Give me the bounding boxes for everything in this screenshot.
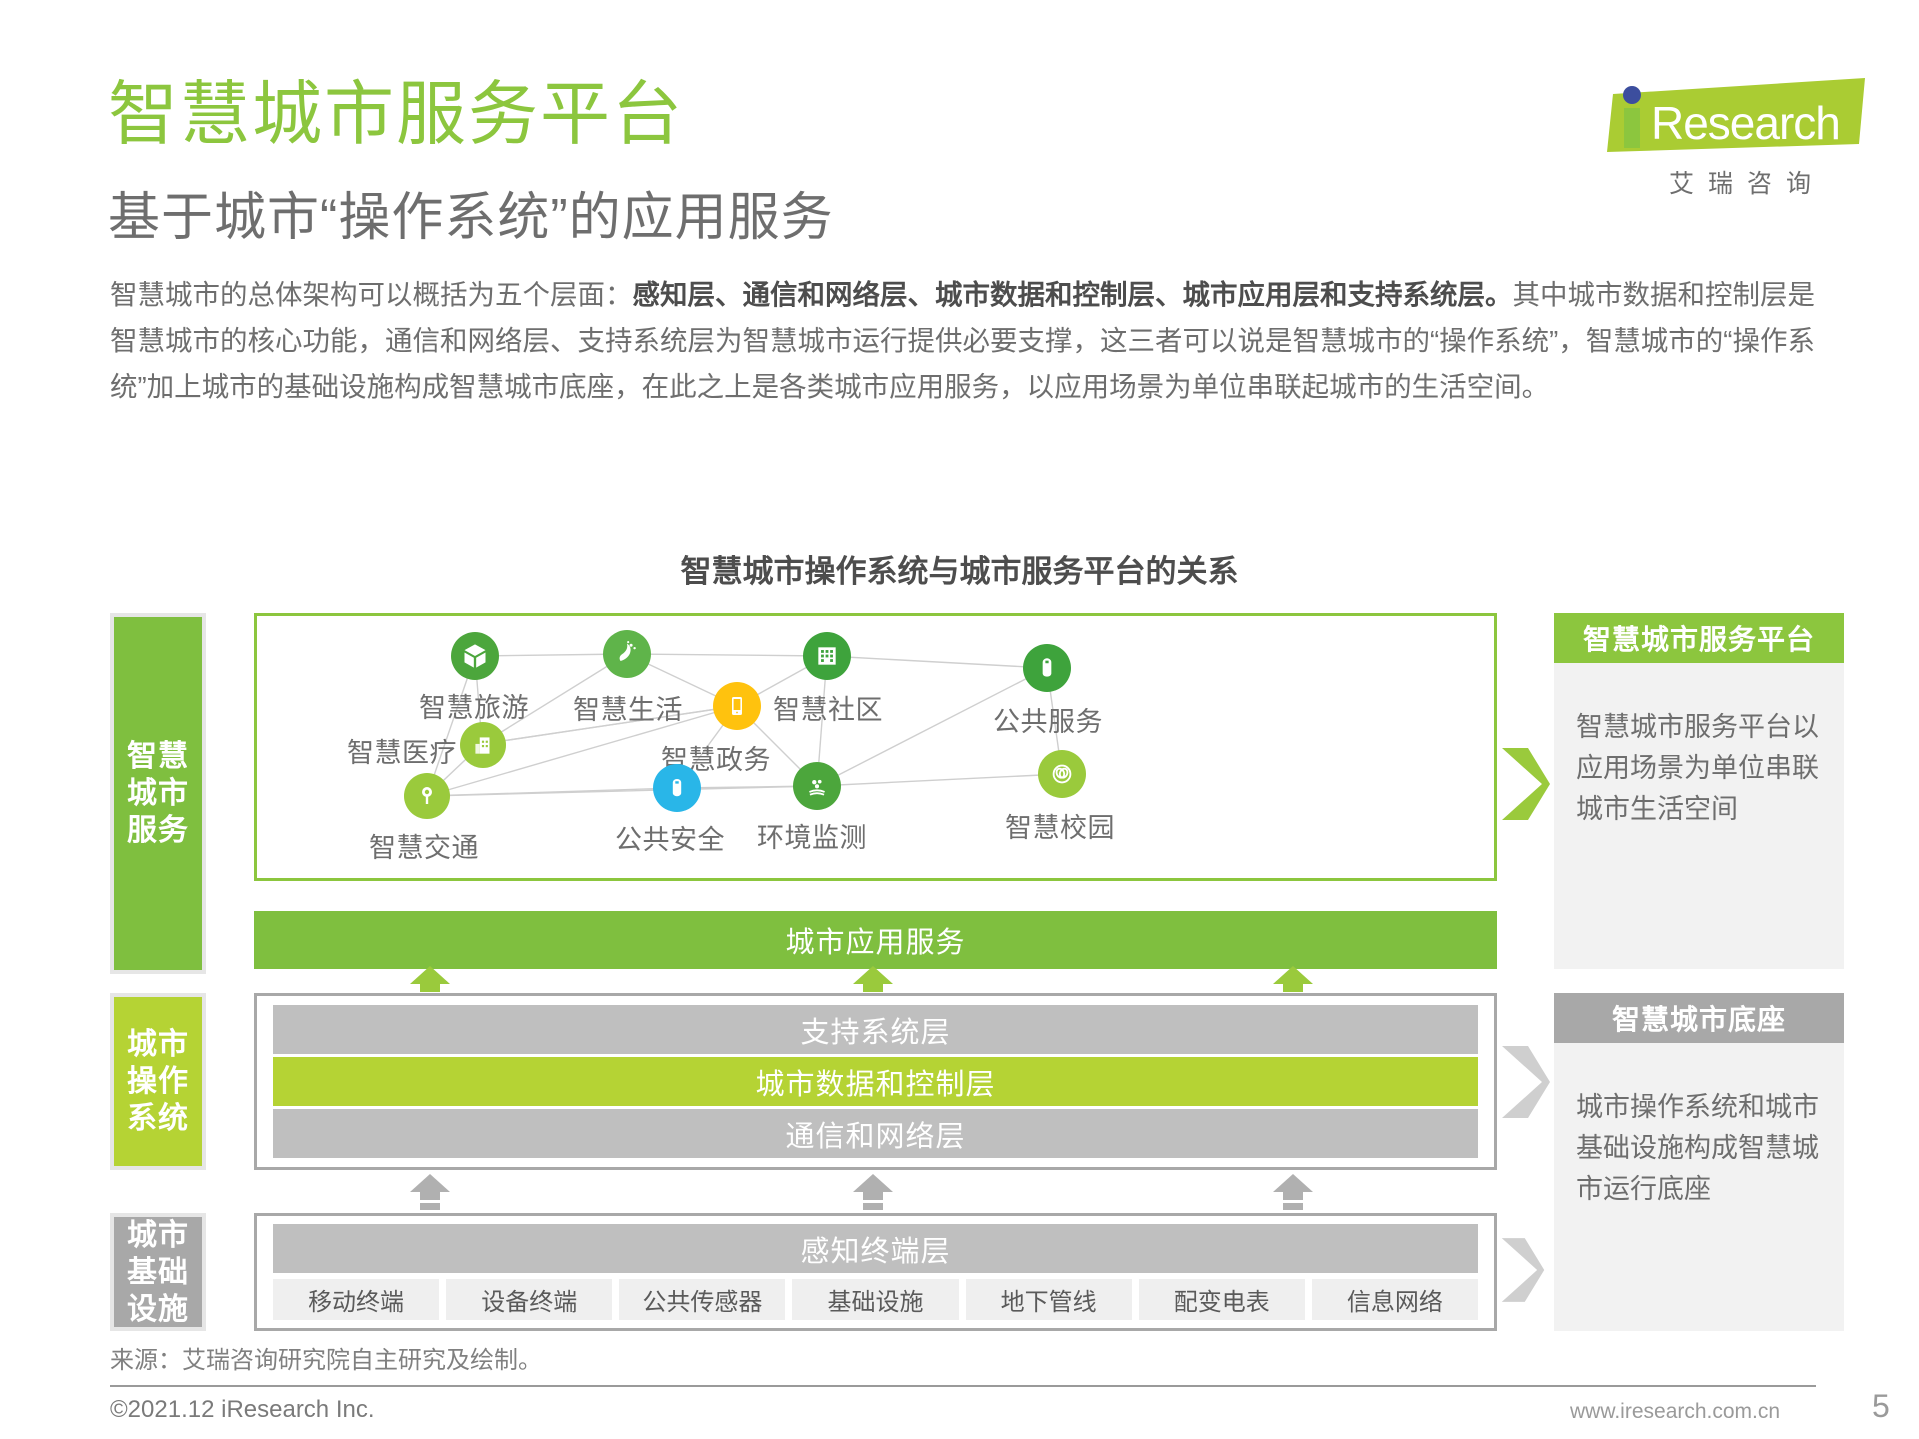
gift-box-icon: [461, 642, 489, 670]
footer-divider: [110, 1385, 1816, 1387]
service-network-panel: 智慧旅游 智慧生活 智慧社区: [254, 613, 1497, 881]
logo-i-stem: [1624, 108, 1640, 148]
chevron-right-grey-icon-2: [1500, 1236, 1546, 1304]
chevron-right-green-icon: [1500, 746, 1552, 822]
traffic-signal-icon: [415, 784, 439, 808]
rail-label-infra: 城市基础设施: [127, 1217, 189, 1328]
node-label-smart-healthcare: 智慧医疗: [347, 731, 457, 770]
infra-cell-power-meter: 配变电表: [1139, 1279, 1305, 1320]
infra-cell-device-terminal: 设备终端: [446, 1279, 612, 1320]
rail-label-services: 智慧城市服务: [127, 738, 189, 849]
infra-cell-information-network: 信息网络: [1312, 1279, 1478, 1320]
paragraph-segment-1: 智慧城市的总体架构可以概括为五个层面：: [110, 279, 633, 310]
intro-paragraph: 智慧城市的总体架构可以概括为五个层面：感知层、通信和网络层、城市数据和控制层、城…: [110, 272, 1822, 410]
node-label-smart-community: 智慧社区: [773, 688, 883, 727]
node-smart-campus[interactable]: [1038, 750, 1086, 798]
website-url: www.iresearch.com.cn: [1570, 1400, 1780, 1424]
pin-circle-icon: [1034, 655, 1060, 681]
page-number: 5: [1872, 1388, 1890, 1425]
node-label-smart-tourism: 智慧旅游: [419, 686, 529, 725]
node-smart-community[interactable]: [803, 632, 851, 680]
node-label-public-safety: 公共安全: [615, 818, 725, 857]
leaf-sensor-icon: [804, 773, 830, 799]
node-public-service[interactable]: [1023, 644, 1071, 692]
infra-layer-sensing-terminal: 感知终端层: [273, 1224, 1478, 1273]
rail-city-operating-system: 城市操作系统: [110, 993, 206, 1170]
os-layer-data-control: 城市数据和控制层: [273, 1057, 1478, 1106]
city-application-service-bar: 城市应用服务: [254, 911, 1497, 969]
node-label-smart-living: 智慧生活: [573, 688, 683, 727]
building-grid-icon: [814, 643, 840, 669]
node-label-public-service: 公共服务: [993, 700, 1103, 739]
os-layer-communication-network: 通信和网络层: [273, 1109, 1478, 1158]
diagram-title: 智慧城市操作系统与城市服务平台的关系: [0, 546, 1919, 591]
node-environment-monitoring[interactable]: [793, 762, 841, 810]
iresearch-logo: Research 艾瑞咨询: [1607, 72, 1867, 192]
slide-page: 智慧城市服务平台 基于城市“操作系统”的应用服务 Research 艾瑞咨询 智…: [0, 0, 1919, 1439]
paragraph-bold-1: 感知层、通信和网络层、城市数据和控制层、城市应用层和支持系统层。: [633, 279, 1513, 310]
card-head-platform: 智慧城市服务平台: [1554, 613, 1844, 663]
card-smart-city-service-platform: 智慧城市服务平台 智慧城市服务平台以应用场景为单位串联城市生活空间: [1554, 613, 1844, 969]
arrow-up-grey-3: [1267, 1174, 1319, 1210]
campus-icon: [1048, 760, 1076, 788]
city-infrastructure-box: 感知终端层 移动终端 设备终端 公共传感器 基础设施 地下管线 配变电表 信息网…: [254, 1213, 1497, 1331]
rail-label-os: 城市操作系统: [127, 1026, 189, 1137]
arrow-up-grey-2: [847, 1174, 899, 1210]
node-smart-tourism[interactable]: [451, 632, 499, 680]
node-smart-healthcare[interactable]: [460, 722, 506, 768]
node-public-safety[interactable]: [653, 764, 701, 812]
tablet-icon: [725, 694, 749, 718]
card-body-platform: 智慧城市服务平台以应用场景为单位串联城市生活空间: [1554, 663, 1844, 830]
infra-cell-underground-pipeline: 地下管线: [966, 1279, 1132, 1320]
os-layer-support-system: 支持系统层: [273, 1005, 1478, 1054]
logo-wordmark: Research: [1651, 96, 1840, 150]
node-label-smart-transport: 智慧交通: [369, 826, 479, 865]
copyright-text: ©2021.12 iResearch Inc.: [110, 1396, 375, 1424]
logo-chinese-name: 艾瑞咨询: [1629, 164, 1865, 200]
leaf-sun-icon: [613, 640, 641, 668]
arrow-up-grey-1: [404, 1174, 456, 1210]
source-note: 来源：艾瑞咨询研究院自主研究及绘制。: [110, 1340, 542, 1375]
logo-dot-icon: [1623, 86, 1641, 104]
page-subtitle: 基于城市“操作系统”的应用服务: [108, 190, 834, 247]
node-label-environment-monitoring: 环境监测: [757, 816, 867, 855]
card-smart-city-base: 智慧城市底座 城市操作系统和城市基础设施构成智慧城市运行底座: [1554, 993, 1844, 1331]
hospital-icon: [470, 732, 496, 758]
node-label-smart-campus: 智慧校园: [1005, 806, 1115, 845]
card-body-base: 城市操作系统和城市基础设施构成智慧城市运行底座: [1554, 1043, 1844, 1210]
node-smart-government[interactable]: [713, 682, 761, 730]
infra-cell-infrastructure: 基础设施: [792, 1279, 958, 1320]
rail-city-infrastructure: 城市基础设施: [110, 1213, 206, 1331]
city-operating-system-box: 支持系统层 城市数据和控制层 通信和网络层: [254, 993, 1497, 1170]
page-title: 智慧城市服务平台: [108, 78, 684, 152]
chevron-right-grey-icon-1: [1500, 1044, 1552, 1120]
node-smart-transport[interactable]: [404, 773, 450, 819]
node-smart-living[interactable]: [603, 630, 651, 678]
infra-cell-row: 移动终端 设备终端 公共传感器 基础设施 地下管线 配变电表 信息网络: [273, 1279, 1478, 1320]
infra-cell-mobile-terminal: 移动终端: [273, 1279, 439, 1320]
shield-bottle-icon: [665, 776, 689, 800]
card-head-base: 智慧城市底座: [1554, 993, 1844, 1043]
rail-smart-city-services: 智慧城市服务: [110, 613, 206, 974]
infra-cell-public-sensor: 公共传感器: [619, 1279, 785, 1320]
